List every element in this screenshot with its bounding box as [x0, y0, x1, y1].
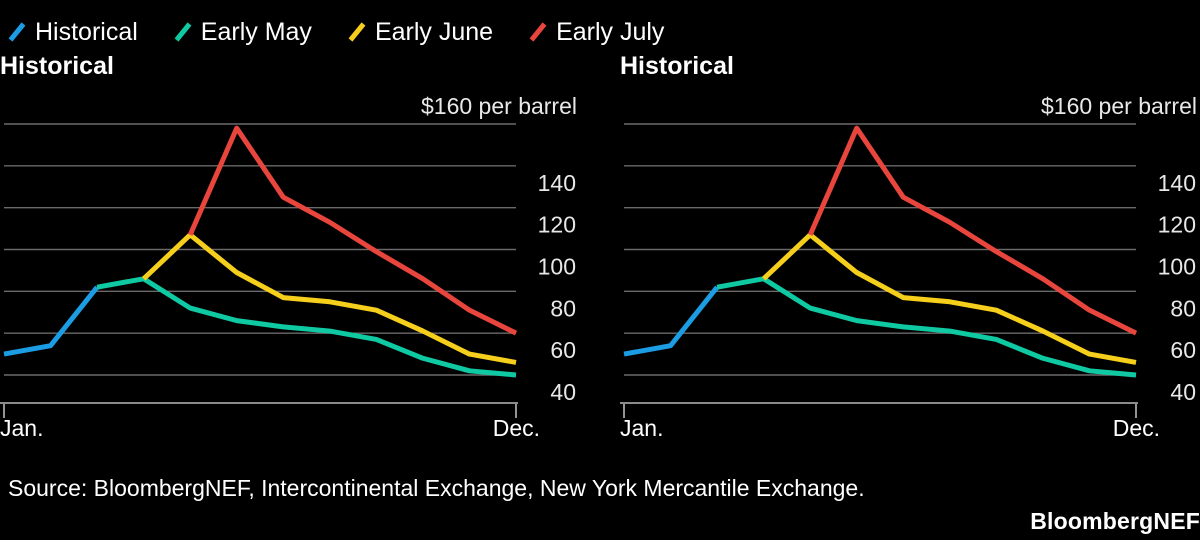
legend-label: Early July — [556, 20, 664, 45]
legend-item-early-july[interactable]: Early July — [529, 20, 664, 45]
series-line-early-july — [190, 128, 516, 333]
x-axis-tick-label: 2026 — [0, 441, 51, 442]
series-line-early-may — [717, 279, 1136, 375]
y-axis-tick-label: 40 — [550, 379, 576, 405]
x-axis-tick-label: Dec. — [493, 415, 540, 441]
y-axis-tick-label: 60 — [1170, 337, 1196, 363]
source-note: Source: BloombergNEF, Intercontinental E… — [8, 475, 865, 501]
line-swatch-icon — [174, 21, 192, 43]
chart-panel-right: Historical $160 per barrel 1401201008060… — [620, 52, 1200, 442]
line-swatch-icon — [348, 21, 366, 43]
chart-legend: Historical Early May Early June — [8, 14, 700, 50]
legend-item-historical[interactable]: Historical — [8, 20, 138, 45]
legend-label: Historical — [35, 20, 138, 45]
line-swatch-icon — [8, 21, 26, 43]
y-axis-tick-label: 100 — [538, 254, 576, 280]
y-axis-tick-label: 100 — [1158, 254, 1196, 280]
line-swatch-icon — [529, 21, 547, 43]
legend-item-early-june[interactable]: Early June — [348, 20, 493, 45]
series-line-historical — [4, 287, 97, 354]
chart-panel-left: Historical $160 per barrel 1401201008060… — [0, 52, 580, 442]
chart-page: Historical Early May Early June — [0, 0, 1200, 540]
x-axis-tick-label: Dec. — [1113, 415, 1160, 441]
series-line-early-july — [810, 128, 1136, 333]
series-line-early-may — [97, 279, 516, 375]
x-axis-tick-label: 2026 — [489, 441, 540, 442]
legend-label: Early June — [375, 20, 493, 45]
series-line-early-june — [144, 235, 516, 363]
x-axis-tick-label: 2026 — [620, 441, 671, 442]
y-axis-tick-label: 120 — [538, 212, 576, 238]
y-axis-tick-label: 40 — [1170, 379, 1196, 405]
legend-item-early-may[interactable]: Early May — [174, 20, 312, 45]
x-axis-tick-label: 2026 — [1109, 441, 1160, 442]
series-line-historical — [624, 287, 717, 354]
y-axis-tick-label: 140 — [1158, 170, 1196, 196]
x-axis-tick-label: Jan. — [0, 415, 43, 441]
y-axis-tick-label: 120 — [1158, 212, 1196, 238]
brand-label: BloombergNEF — [1030, 508, 1200, 534]
series-line-early-june — [764, 235, 1136, 363]
y-axis-tick-label: 80 — [550, 295, 576, 321]
y-axis-tick-label: 60 — [550, 337, 576, 363]
line-chart-right: 140120100806040Jan.2026Dec.2026 — [620, 52, 1200, 442]
y-axis-tick-label: 140 — [538, 170, 576, 196]
x-axis-tick-label: Jan. — [620, 415, 663, 441]
line-chart-left: 140120100806040Jan.2026Dec.2026 — [0, 52, 580, 442]
legend-label: Early May — [201, 20, 312, 45]
y-axis-tick-label: 80 — [1170, 295, 1196, 321]
